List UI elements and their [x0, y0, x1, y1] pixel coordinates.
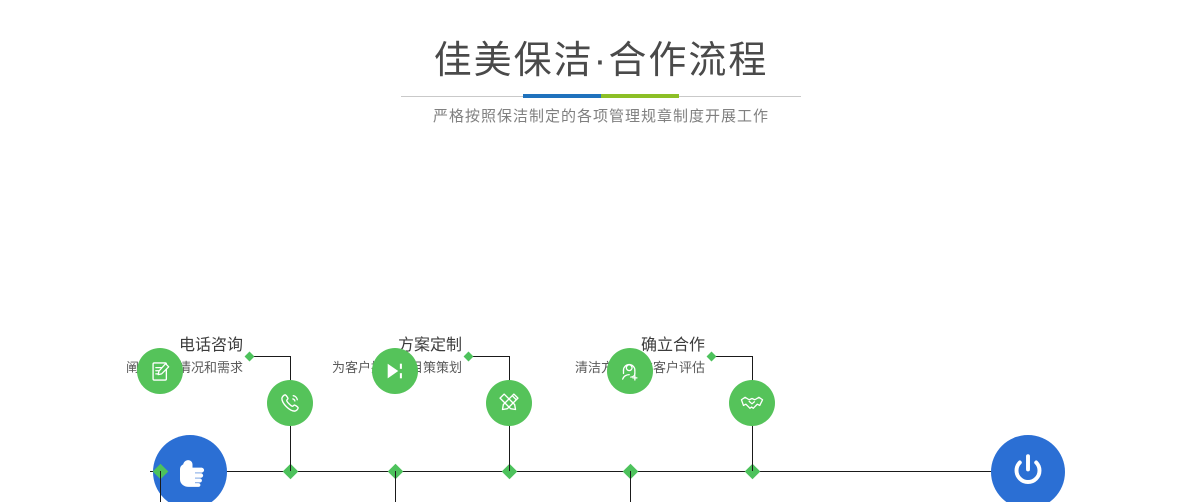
- phone-call-icon: [277, 390, 303, 416]
- handshake-icon: [739, 390, 765, 416]
- divider-segment-blue: [523, 94, 601, 98]
- step-6-node[interactable]: [607, 348, 653, 394]
- divider-line-right: [679, 96, 801, 97]
- timeline-end-endpoint[interactable]: [991, 435, 1065, 502]
- pencil-design-icon: [496, 390, 522, 416]
- divider-line-left: [401, 96, 523, 97]
- step-5-node[interactable]: [729, 380, 775, 426]
- step-5-label-marker: [707, 352, 717, 362]
- page-title: 佳美保洁·合作流程: [0, 38, 1202, 84]
- step-1-node[interactable]: [267, 380, 313, 426]
- step-5-desc: 清洁方案通过客户评估: [440, 357, 705, 379]
- divider-segment-green: [601, 94, 679, 98]
- customer-support-add-icon: [617, 358, 643, 384]
- step-4-connector-vertical: [395, 471, 396, 502]
- process-flow-infographic: 佳美保洁·合作流程 严格按照保洁制定的各项管理规章制度开展工作: [0, 0, 1202, 502]
- step-2-connector-vertical: [160, 471, 161, 502]
- step-2-node[interactable]: [137, 348, 183, 394]
- step-6-connector-vertical: [630, 471, 631, 502]
- step-5-title: 确立合作: [440, 335, 705, 357]
- power-icon: [1007, 451, 1049, 493]
- page-subtitle: 严格按照保洁制定的各项管理规章制度开展工作: [0, 105, 1202, 129]
- step-3-label: 方案定制 为客户提供项目策策划: [200, 335, 462, 379]
- header: 佳美保洁·合作流程 严格按照保洁制定的各项管理规章制度开展工作: [0, 0, 1202, 150]
- document-edit-icon: [148, 359, 173, 384]
- pointing-hand-icon: [170, 452, 210, 492]
- step-3-title: 方案定制: [200, 335, 462, 357]
- step-5-label: 确立合作 清洁方案通过客户评估: [440, 335, 705, 379]
- play-forward-icon: [382, 358, 408, 384]
- step-5-connector-horizontal: [712, 356, 752, 357]
- title-divider: [401, 94, 801, 98]
- step-3-node[interactable]: [486, 380, 532, 426]
- step-3-desc: 为客户提供项目策策划: [200, 357, 462, 379]
- step-4-node[interactable]: [372, 348, 418, 394]
- timeline: 电话咨询 阐明基本情况和需求 签署协议 签署合同，: [0, 150, 1202, 502]
